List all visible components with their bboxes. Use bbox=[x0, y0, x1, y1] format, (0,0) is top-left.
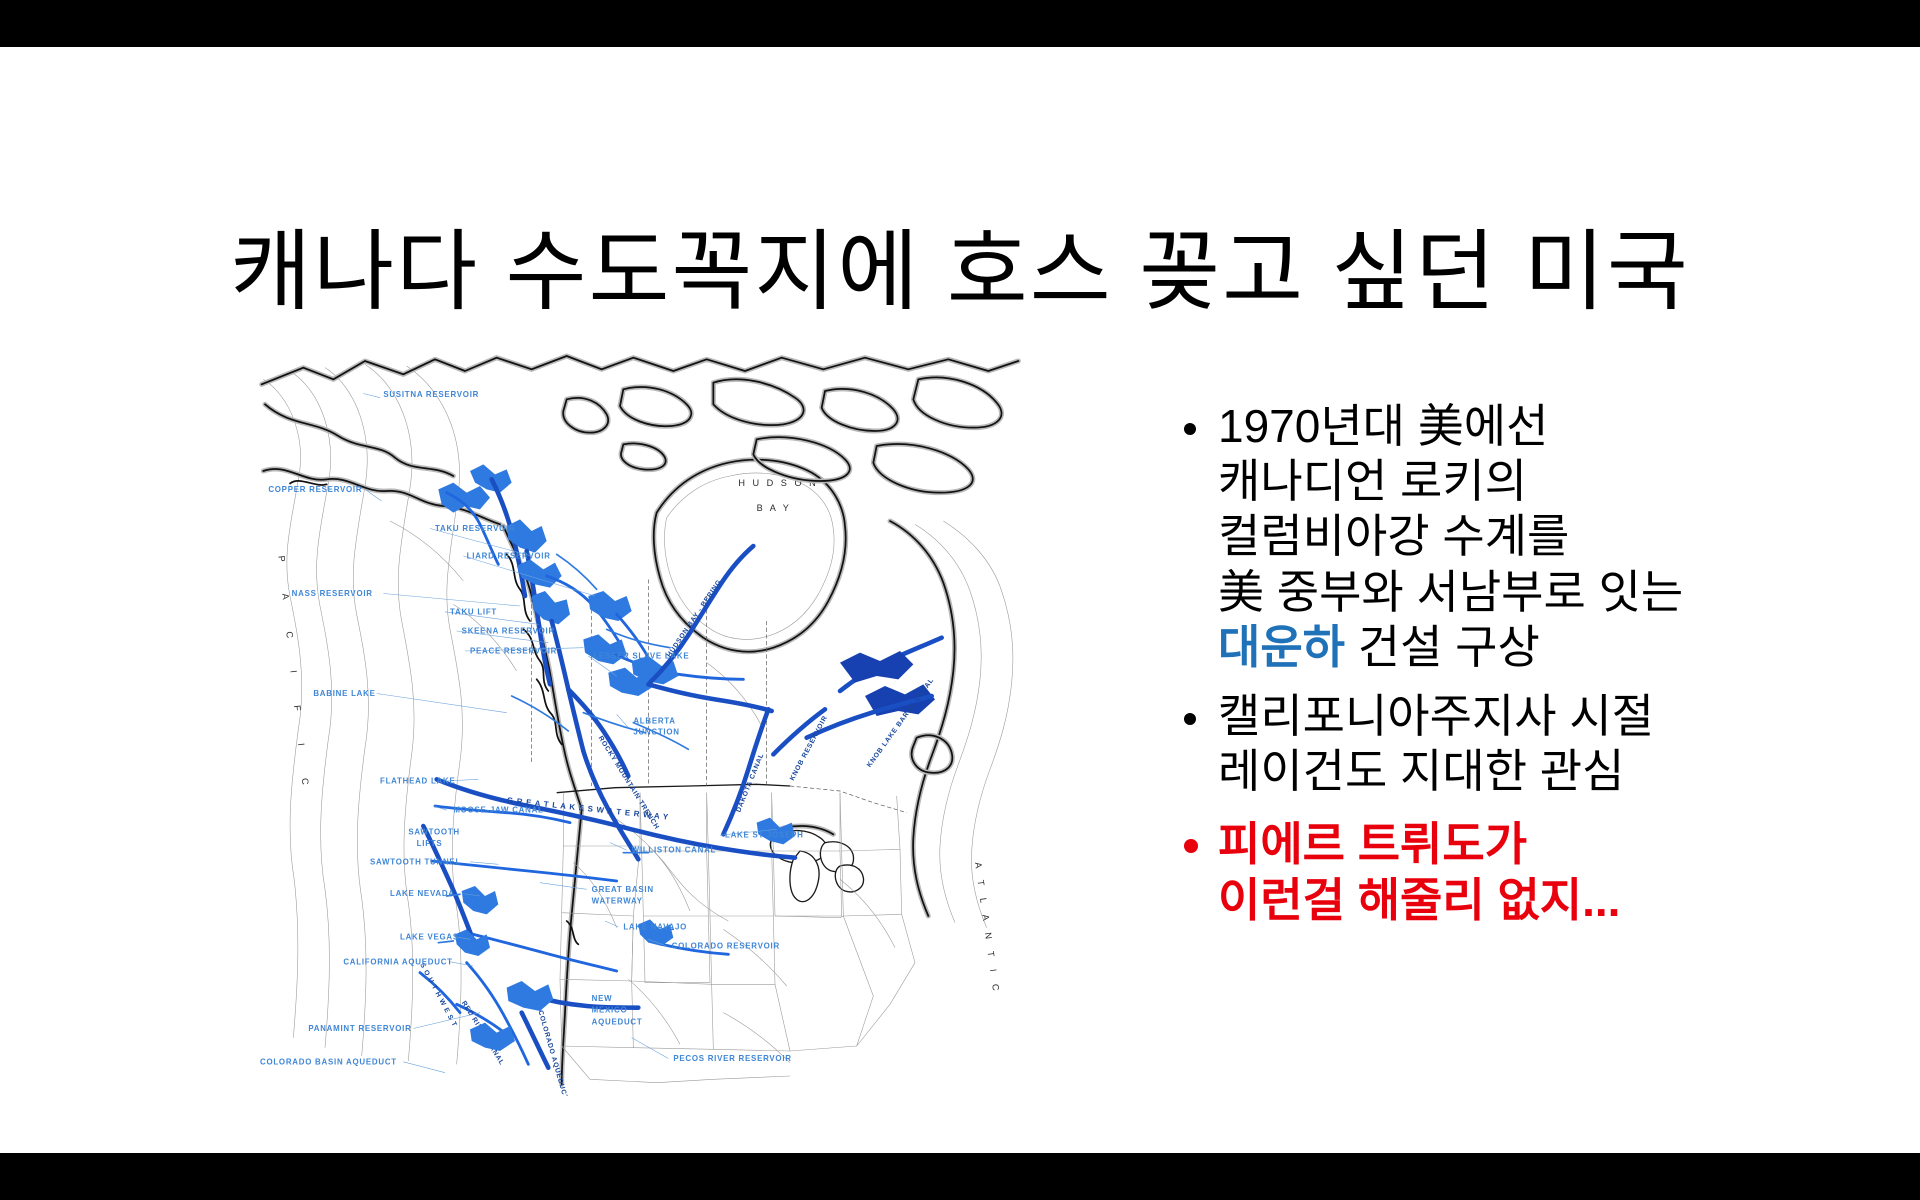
map-label-panamint-reservoir: PANAMINT RESERVOIR bbox=[308, 1024, 411, 1033]
bullet-1-text: 1970년대 美에선 캐나디언 로키의 컬럼비아강 수계를 美 중부와 서남부로… bbox=[1218, 400, 1683, 618]
bullet-item-3: 피에르 트뤼도가 이런걸 해줄리 없지... bbox=[1178, 817, 1878, 927]
bullet-1-tail: 건설 구상 bbox=[1345, 621, 1540, 673]
map-label-california-aqueduct: CALIFORNIA AQUEDUCT bbox=[343, 957, 452, 966]
map-label-lake-navajo: LAKE NAVAJO bbox=[623, 922, 687, 931]
map-label-new-mexico-aqueduct: NEW bbox=[592, 994, 613, 1003]
map-label-taku-lift: TAKU LIFT bbox=[450, 607, 497, 616]
bullet-1-highlight: 대운하 bbox=[1218, 621, 1345, 673]
map-label-peace-reservoir: PEACE RESERVOIR bbox=[470, 647, 557, 656]
nawapa-map-image: H U D S O N B A Y bbox=[133, 346, 1147, 1096]
map-label-babine-lake: BABINE LAKE bbox=[313, 689, 375, 698]
slide-canvas: 캐나다 수도꼭지에 호스 꽂고 싶던 미국 bbox=[0, 47, 1920, 1153]
map-label-great-basin-waterway: GREAT BASIN bbox=[592, 885, 654, 894]
map-label-colorado-basin-aqueduct: COLORADO BASIN AQUEDUCT bbox=[260, 1057, 397, 1066]
map-label-sawtooth-lifts: SAWTOOTH bbox=[408, 827, 460, 836]
map-label-copper-reservoir: COPPER RESERVOIR bbox=[268, 485, 362, 494]
map-label-sawtooth-lifts-2: LIFTS bbox=[417, 839, 443, 848]
map-label-great-basin-waterway-2: WATERWAY bbox=[592, 897, 643, 906]
map-label-alberta-junction: ALBERTA bbox=[633, 717, 675, 726]
letterbox-top bbox=[0, 0, 1920, 47]
bullet-3-text: 피에르 트뤼도가 이런걸 해줄리 없지... bbox=[1218, 818, 1620, 925]
bullet-item-1: 1970년대 美에선 캐나디언 로키의 컬럼비아강 수계를 美 중부와 서남부로… bbox=[1178, 399, 1878, 675]
map-label-lesser-slave-lake: LESSER SLAVE LAKE bbox=[593, 652, 689, 661]
map-label-lake-nevada: LAKE NEVADA bbox=[390, 889, 455, 898]
map-label-sawtooth-tunnel: SAWTOOTH TUNNEL bbox=[370, 857, 461, 866]
letterbox-bottom bbox=[0, 1153, 1920, 1200]
map-label-nass-reservoir: NASS RESERVOIR bbox=[292, 589, 373, 598]
map-label-lake-st-joseph: LAKE ST JOSEPH bbox=[725, 831, 804, 840]
body-text-block: 1970년대 美에선 캐나디언 로키의 컬럼비아강 수계를 美 중부와 서남부로… bbox=[1178, 399, 1878, 942]
map-label-moose-jaw-canal: MOOSE-JAW CANAL bbox=[453, 806, 543, 815]
bullet-2-text: 캘리포니아주지사 시절 레이건도 지대한 관심 bbox=[1218, 690, 1654, 797]
map-label-flathead-lake: FLATHEAD LAKE bbox=[380, 777, 455, 786]
map-label-liard-reservoir: LIARD RESERVOIR bbox=[467, 552, 551, 561]
page-title: 캐나다 수도꼭지에 호스 꽂고 싶던 미국 bbox=[0, 226, 1920, 318]
map-label-alberta-junction-2: JUNCTION bbox=[633, 727, 679, 736]
map-label-new-mexico-aqueduct-3: AQUEDUCT bbox=[592, 1017, 643, 1026]
nawapa-map-svg: H U D S O N B A Y bbox=[133, 346, 1147, 1096]
map-label-bay: B A Y bbox=[757, 503, 792, 513]
map-label-lake-vegas: LAKE VEGAS bbox=[400, 932, 459, 941]
slide-stage: 캐나다 수도꼭지에 호스 꽂고 싶던 미국 bbox=[0, 0, 1920, 1200]
bullet-item-2: 캘리포니아주지사 시절 레이건도 지대한 관심 bbox=[1178, 689, 1878, 799]
map-label-skeena-reservoir: SKEENA RESERVOIR bbox=[462, 627, 555, 636]
map-label-williston-canal: WILLISTON CANAL bbox=[632, 846, 716, 855]
map-label-new-mexico-aqueduct-2: MEXICO bbox=[592, 1006, 628, 1015]
map-label-colorado-reservoir: COLORADO RESERVOIR bbox=[672, 942, 780, 951]
map-label-susitna-reservoir: SUSITNA RESERVOIR bbox=[383, 390, 479, 399]
map-label-pecos-river-reservoir: PECOS RIVER RESERVOIR bbox=[673, 1054, 791, 1063]
map-label-taku-reservoir: TAKU RESERVOIR bbox=[435, 524, 516, 533]
